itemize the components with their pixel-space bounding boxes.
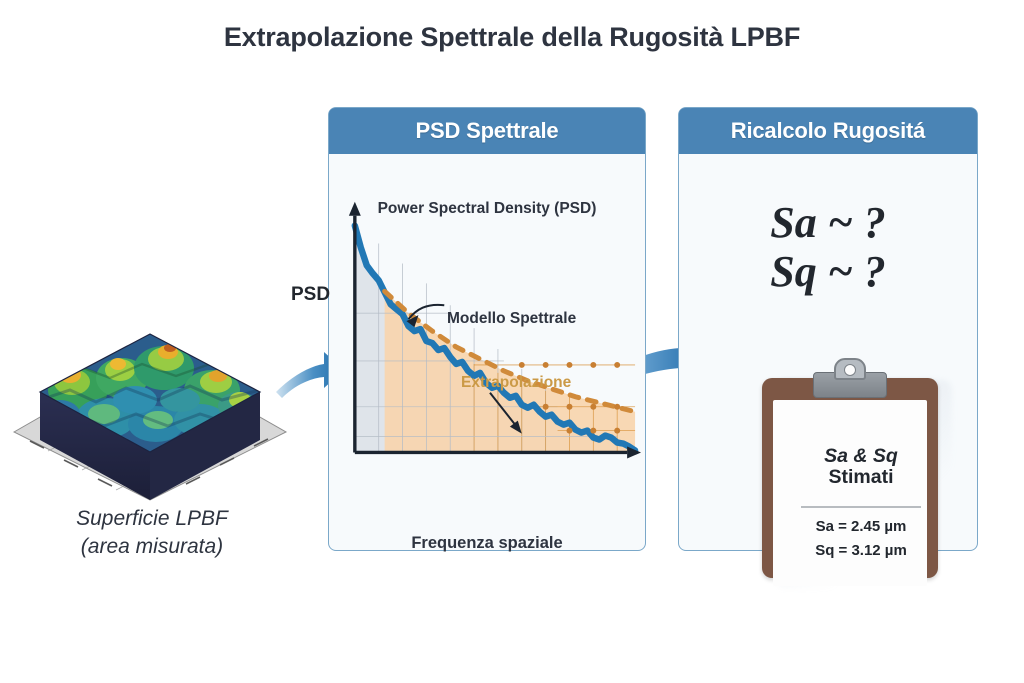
page-title: Extrapolazione Spettrale della Rugosità … xyxy=(0,22,1024,53)
surface-caption: Superficie LPBF (area misurata) xyxy=(18,505,286,562)
panel-psd-spettrale: PSD Spettrale Power Spectral Density (PS… xyxy=(328,107,646,551)
y-axis-label: PSD xyxy=(291,284,330,306)
clipboard-paper: Sa & Sq Stimati Sa = 2.45 µm Sq = 3.12 µ… xyxy=(773,400,927,586)
annotation-modello-spettrale: Modello Spettrale xyxy=(447,310,576,328)
clipboard-divider xyxy=(801,506,921,508)
3d-surface-topography xyxy=(0,272,296,504)
panel-psd-body: Power Spectral Density (PSD) xyxy=(329,154,645,550)
clipboard-value-sa: Sa = 2.45 µm xyxy=(773,518,949,535)
clipboard-board: Sa & Sq Stimati Sa = 2.45 µm Sq = 3.12 µ… xyxy=(762,378,938,578)
question-sq: Sq ~ ? xyxy=(679,247,977,296)
question-sa: Sa ~ ? xyxy=(679,198,977,247)
clipboard-value-sq: Sq = 3.12 µm xyxy=(773,542,949,559)
panel-psd-header: PSD Spettrale xyxy=(329,108,645,154)
psd-chart-plot xyxy=(329,154,645,550)
clipboard-heading-line1: Sa & Sq xyxy=(773,446,949,467)
clipboard-heading: Sa & Sq Stimati xyxy=(773,446,949,488)
panel-recalc-header: Ricalcolo Rugositá xyxy=(679,108,977,154)
x-axis-label: Frequenza spaziale xyxy=(329,534,645,553)
annotation-extrapolazione: Extrapolazione xyxy=(461,374,571,392)
clipboard-clip-hole xyxy=(844,364,856,376)
question-block: Sa ~ ? Sq ~ ? xyxy=(679,198,977,297)
clipboard-estimates: Sa & Sq Stimati Sa = 2.45 µm Sq = 3.12 µ… xyxy=(762,366,938,578)
surface-caption-line2: (area misurata) xyxy=(18,533,286,561)
infographic-canvas: Extrapolazione Spettrale della Rugosità … xyxy=(0,0,1024,683)
psd-chart: Power Spectral Density (PSD) xyxy=(329,154,645,550)
clipboard-heading-line2: Stimati xyxy=(773,467,949,488)
surface-caption-line1: Superficie LPBF xyxy=(18,505,286,533)
